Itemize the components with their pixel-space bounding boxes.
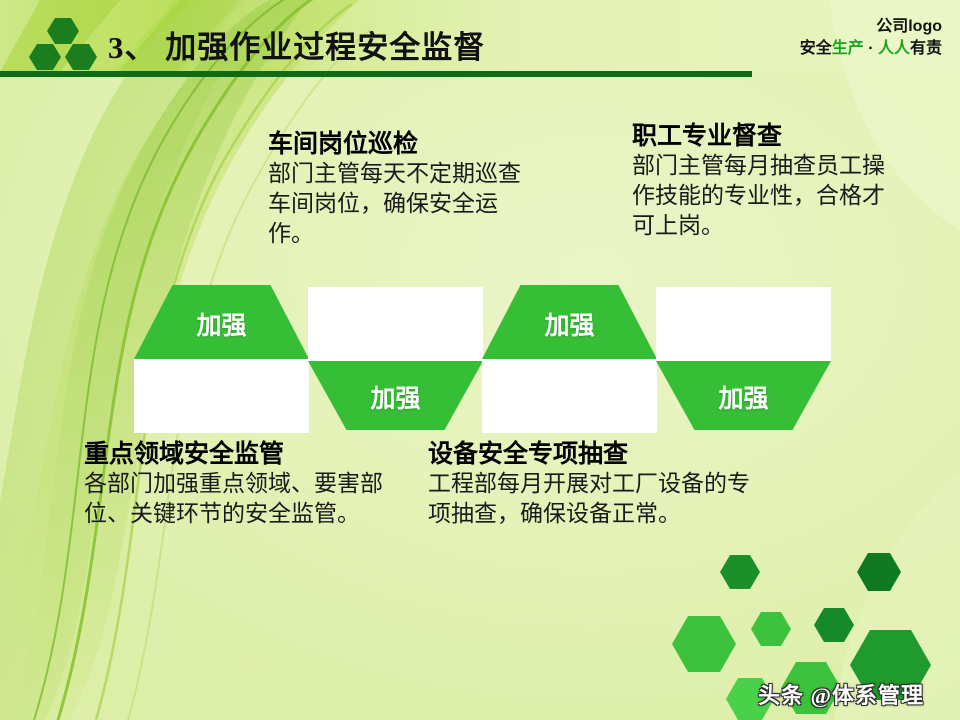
- shape-group-4[interactable]: 加强: [656, 287, 831, 430]
- shape-2-label: 加强: [308, 379, 483, 415]
- shape-4-label: 加强: [656, 379, 831, 415]
- shape-1-label: 加强: [134, 306, 309, 342]
- key-area-body: 各部门加强重点领域、要害部位、关键环节的安全监管。: [84, 469, 414, 529]
- text-block-equipment: 设备安全专项抽查 工程部每月开展对工厂设备的专项抽查，确保设备正常。: [428, 440, 758, 529]
- shape-1-green-trapezoid: 加强: [134, 285, 309, 359]
- shape-4-green-trapezoid: 加强: [656, 361, 831, 430]
- equipment-heading: 设备安全专项抽查: [428, 440, 758, 468]
- shape-group-3[interactable]: 加强: [482, 285, 657, 433]
- key-area-heading: 重点领域安全监管: [84, 440, 414, 468]
- shape-3-green-trapezoid: 加强: [482, 285, 657, 359]
- shape-3-label: 加强: [482, 306, 657, 342]
- equipment-body: 工程部每月开展对工厂设备的专项抽查，确保设备正常。: [428, 469, 758, 529]
- shape-1-white-panel: [134, 359, 309, 433]
- shape-2-white-panel: [308, 287, 483, 361]
- shape-2-green-trapezoid: 加强: [308, 361, 483, 430]
- shape-4-white-panel: [656, 287, 831, 361]
- text-block-key-area: 重点领域安全监管 各部门加强重点领域、要害部位、关键环节的安全监管。: [84, 440, 414, 529]
- watermark-text: 头条 @体系管理: [758, 678, 924, 710]
- hexagon-shape: [720, 555, 760, 589]
- shape-3-white-panel: [482, 359, 657, 433]
- shape-group-2[interactable]: 加强: [308, 287, 483, 430]
- slide-canvas: 3、 加强作业过程安全监督 公司logo 安全生产 · 人人有责 车间岗位巡检 …: [0, 0, 960, 720]
- shape-group-1[interactable]: 加强: [134, 285, 309, 433]
